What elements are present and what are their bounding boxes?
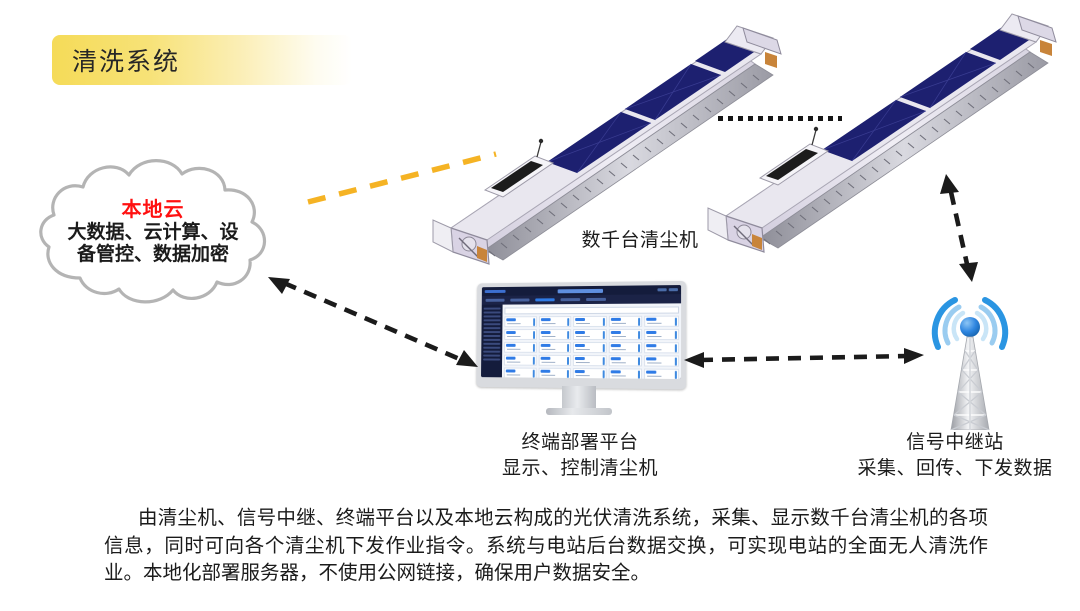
cloud-description: 大数据、云计算、设备管控、数据加密 xyxy=(65,222,241,266)
tower-robot-connector-arrow xyxy=(905,170,995,285)
dashboard-title xyxy=(558,288,603,292)
cleaning-robot-2 xyxy=(700,0,1080,260)
device-card[interactable] xyxy=(504,355,536,366)
monitor-caption-line2: 显示、控制清尘机 xyxy=(420,456,740,482)
dashboard-user-area[interactable] xyxy=(657,288,678,291)
monitor-bezel xyxy=(476,281,686,390)
robots-caption: 数千台清尘机 xyxy=(480,228,800,254)
monitor-caption: 终端部署平台 显示、控制清尘机 xyxy=(420,430,740,481)
device-card[interactable] xyxy=(573,355,606,366)
device-card[interactable] xyxy=(504,342,536,353)
cloud-to-robot-dashed-line xyxy=(300,140,520,220)
tower-caption-line1: 信号中继站 xyxy=(830,430,1080,456)
robots-caption-line: 数千台清尘机 xyxy=(480,228,800,254)
nav-tab[interactable] xyxy=(586,298,606,301)
dashboard-toolbar[interactable] xyxy=(504,306,679,314)
cloud-title: 本地云 xyxy=(122,199,185,222)
device-card[interactable] xyxy=(538,329,571,340)
device-card[interactable] xyxy=(645,342,679,353)
monitor-stand-base xyxy=(546,408,612,415)
device-card[interactable] xyxy=(609,342,643,353)
device-card[interactable] xyxy=(644,355,678,366)
cloud-text-block: 本地云 大数据、云计算、设备管控、数据加密 xyxy=(28,150,278,315)
terminal-monitor xyxy=(473,282,685,422)
dashboard-screen[interactable] xyxy=(481,285,681,379)
device-card[interactable] xyxy=(645,329,679,340)
dashboard-body xyxy=(481,303,681,379)
page-title: 清洗系统 xyxy=(72,42,180,78)
nav-tab-active[interactable] xyxy=(535,298,554,301)
nav-tab[interactable] xyxy=(561,298,581,301)
local-cloud-group: 本地云 大数据、云计算、设备管控、数据加密 xyxy=(28,150,278,315)
device-card[interactable] xyxy=(573,368,606,379)
tower-caption-line2: 采集、回传、下发数据 xyxy=(830,456,1080,482)
page-title-banner: 清洗系统 xyxy=(52,35,352,85)
nav-tab[interactable] xyxy=(510,299,529,302)
device-card[interactable] xyxy=(609,329,643,340)
device-card[interactable] xyxy=(609,355,643,366)
device-card[interactable] xyxy=(504,367,536,378)
device-card[interactable] xyxy=(538,368,571,379)
device-card[interactable] xyxy=(644,369,679,380)
slide-canvas: 清洗系统 本地云 大数据、云计算、设备管控、数据加密 xyxy=(0,0,1080,611)
device-card[interactable] xyxy=(608,368,642,379)
cloud-monitor-connector-arrow xyxy=(250,255,495,390)
device-card-grid xyxy=(504,316,679,379)
device-card[interactable] xyxy=(573,342,606,353)
device-card[interactable] xyxy=(539,316,572,327)
device-card[interactable] xyxy=(538,355,571,366)
device-card[interactable] xyxy=(573,329,606,340)
device-card[interactable] xyxy=(504,316,536,327)
summary-paragraph: 由清尘机、信号中继、终端平台以及本地云构成的光伏清洗系统，采集、显示数千台清尘机… xyxy=(104,505,988,588)
dashboard-content xyxy=(502,303,681,379)
device-card[interactable] xyxy=(609,316,643,327)
tower-caption: 信号中继站 采集、回传、下发数据 xyxy=(830,430,1080,481)
monitor-stand-neck xyxy=(562,386,596,410)
device-card[interactable] xyxy=(538,342,571,353)
device-card[interactable] xyxy=(504,329,536,340)
user-chip xyxy=(669,288,678,291)
device-card[interactable] xyxy=(645,316,679,327)
user-chip xyxy=(657,288,666,291)
monitor-tower-connector-arrow xyxy=(680,340,930,380)
device-card[interactable] xyxy=(573,316,606,327)
monitor-caption-line1: 终端部署平台 xyxy=(420,430,740,456)
robot-to-robot-dotted-link xyxy=(718,108,858,128)
